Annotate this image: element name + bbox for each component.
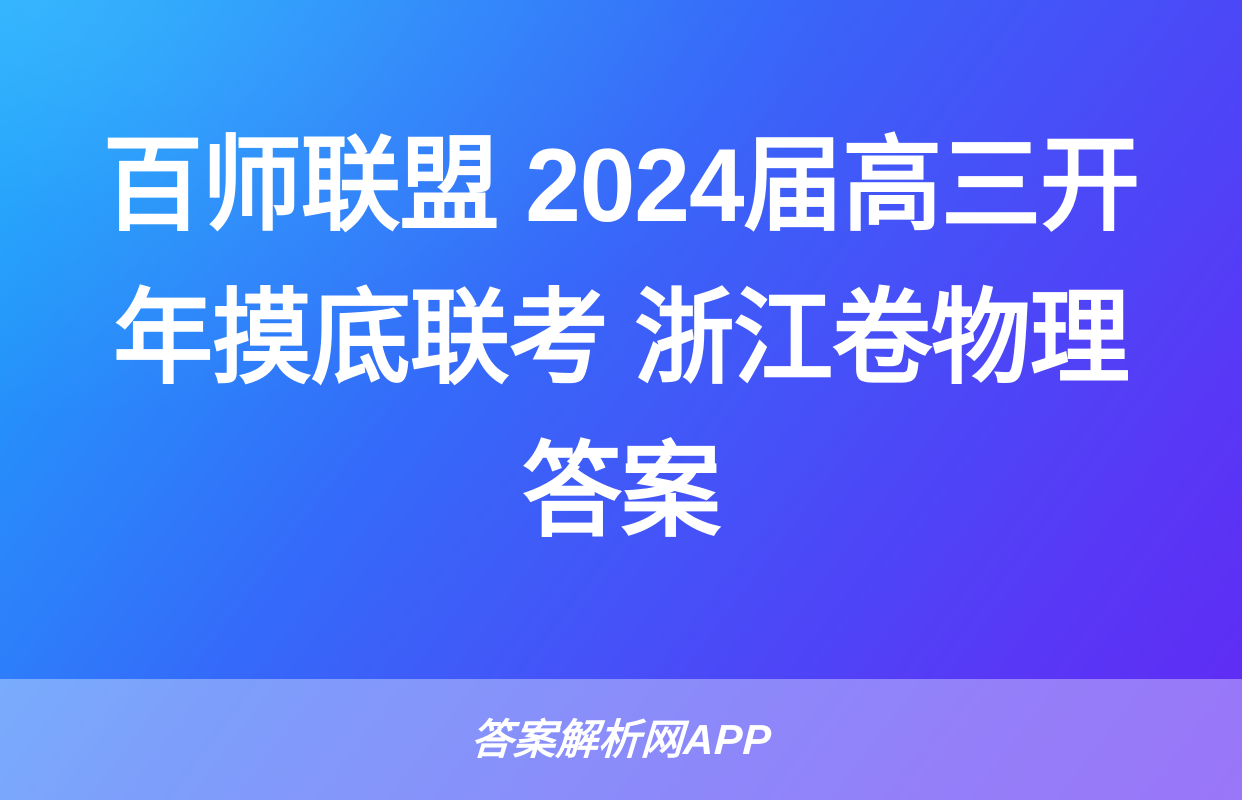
footer-band: 答案解析网APP: [0, 679, 1242, 800]
app-brand-label: 答案解析网APP: [470, 719, 773, 761]
page-title: 百师联盟 2024届高三开年摸底联考 浙江卷物理答案: [93, 110, 1149, 569]
title-area: 百师联盟 2024届高三开年摸底联考 浙江卷物理答案: [0, 0, 1242, 679]
poster-canvas: 百师联盟 2024届高三开年摸底联考 浙江卷物理答案 答案解析网APP: [0, 0, 1242, 800]
